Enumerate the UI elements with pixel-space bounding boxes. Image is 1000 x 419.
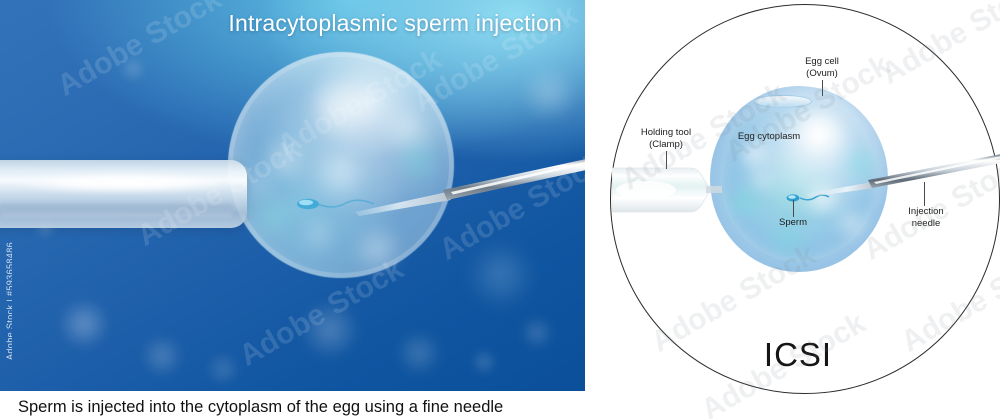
label-sperm-line1: Sperm (779, 217, 807, 228)
leader-line-egg-cell (822, 80, 823, 96)
icsi-illustration: Adobe Stock Adobe Stock Adobe Stock Adob… (0, 0, 1000, 419)
egg-cell-membrane (228, 52, 454, 278)
icsi-title: ICSI (596, 336, 1000, 374)
label-holding-tool-line2: (Clamp) (649, 139, 683, 150)
holding-pipette-highlight (18, 174, 223, 192)
label-injection-needle-line1: Injection (908, 206, 943, 217)
label-egg-cell: Egg cell (Ovum) (774, 56, 870, 79)
holding-tool (612, 160, 722, 220)
label-injection-needle-line2: needle (912, 218, 941, 229)
holding-pipette-bore (0, 205, 232, 217)
leader-line-injection-needle (924, 182, 925, 206)
caption: Sperm is injected into the cytoplasm of … (18, 396, 588, 419)
leader-line-sperm (793, 200, 794, 217)
label-holding-tool: Holding tool (Clamp) (618, 127, 714, 150)
stock-watermark-text: Adobe Stock | #593658486 (5, 121, 12, 396)
label-sperm: Sperm (764, 217, 822, 229)
stock-watermark-bar: Adobe Stock | #593658486 (0, 0, 12, 396)
leader-line-holding-tool (666, 151, 667, 169)
label-egg-cell-line1: Egg cell (805, 56, 839, 67)
label-egg-cytoplasm: Egg cytoplasm (714, 131, 824, 143)
holding-pipette (0, 160, 247, 228)
page-title: Intracytoplasmic sperm injection (0, 10, 562, 37)
label-holding-tool-line1: Holding tool (641, 127, 691, 138)
label-injection-needle: Injection needle (884, 206, 968, 229)
left-photo-panel: Adobe Stock Adobe Stock Adobe Stock Adob… (0, 0, 585, 396)
sperm (296, 192, 382, 218)
label-egg-cell-line2: (Ovum) (806, 68, 838, 79)
right-diagram-panel: Egg cell (Ovum) Egg cytoplasm Holding to… (596, 0, 1000, 419)
label-egg-cytoplasm-line1: Egg cytoplasm (738, 131, 800, 142)
polar-body (754, 95, 812, 108)
injection-needle (806, 150, 1000, 210)
